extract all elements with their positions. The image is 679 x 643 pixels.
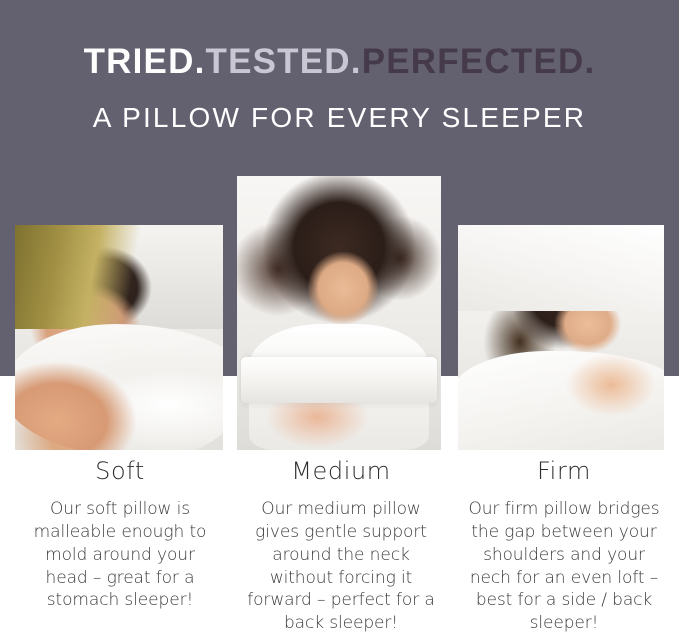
column-title-firm: Firm <box>449 458 679 484</box>
column-body-firm: Our firm pillow bridges the gap between … <box>449 498 679 635</box>
photo-panel-soft <box>15 225 223 450</box>
headline-word-perfected: PERFECTED. <box>362 42 596 81</box>
column-firm: Firm Our firm pillow bridges the gap bet… <box>449 458 679 635</box>
headline-word-tried: TRIED. <box>84 42 206 81</box>
photo-panel-medium <box>237 176 441 450</box>
photo-panel-firm <box>458 225 664 450</box>
column-title-medium: Medium <box>227 458 455 484</box>
page-headline: TRIED.TESTED.PERFECTED. <box>0 44 679 79</box>
sleeping-man-photo <box>15 225 223 450</box>
column-soft: Soft Our soft pillow is malleable enough… <box>6 458 234 612</box>
sleeping-woman-back-photo <box>237 176 441 450</box>
page-subheadline: A PILLOW FOR EVERY SLEEPER <box>0 104 679 132</box>
headline-word-tested: TESTED. <box>206 42 362 81</box>
column-body-medium: Our medium pillow gives gentle support a… <box>227 498 455 635</box>
column-medium: Medium Our medium pillow gives gentle su… <box>227 458 455 635</box>
sleeping-woman-side-photo <box>458 225 664 450</box>
column-title-soft: Soft <box>6 458 234 484</box>
column-body-soft: Our soft pillow is malleable enough to m… <box>6 498 234 612</box>
